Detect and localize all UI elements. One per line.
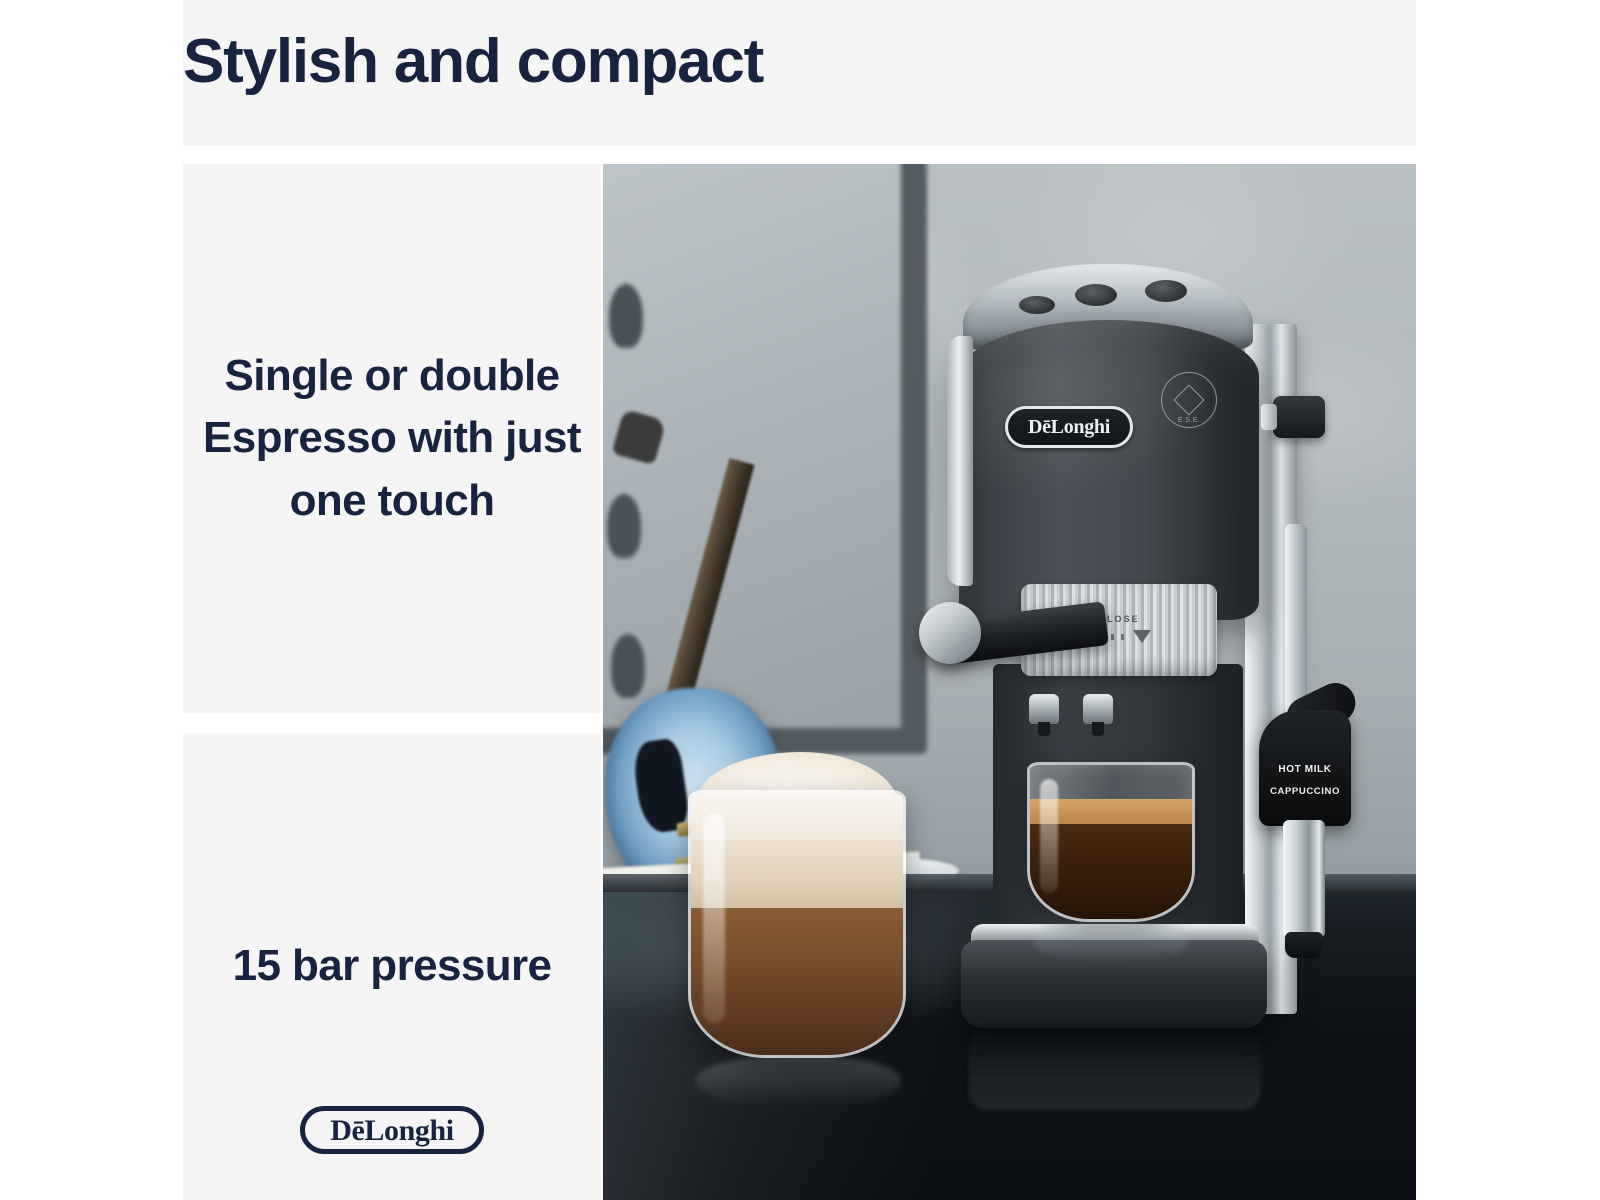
cup-warming-pad-icon — [1075, 284, 1117, 306]
cup-warming-pad-icon — [1019, 296, 1055, 314]
feature-panel-pressure: 15 bar pressure DēLonghi — [183, 733, 601, 1200]
mirror-ornament-icon — [609, 284, 643, 348]
brew-ring-arrow-icon — [1133, 630, 1151, 643]
product-feature-page: Stylish and compact Single or double Esp… — [0, 0, 1600, 1200]
header-band: Stylish and compact — [183, 0, 1416, 146]
espresso-glass — [1027, 762, 1195, 922]
steam-wand-label-cappuccino: CAPPUCCINO — [1259, 786, 1351, 797]
cup-warming-pad-icon — [1145, 280, 1187, 302]
espresso-reflection — [1033, 922, 1189, 964]
steam-control-knob — [1273, 396, 1325, 438]
machine-delonghi-badge: DēLonghi — [1005, 406, 1133, 448]
ese-seal-diamond-icon — [1173, 384, 1204, 415]
steam-wand-grip: HOT MILK CAPPUCCINO — [1259, 710, 1351, 826]
delonghi-logo-text: DēLonghi — [330, 1116, 454, 1146]
steam-wand-tip — [1285, 932, 1323, 958]
ese-seal-icon: E.S.E. — [1161, 372, 1217, 428]
delonghi-logo: DēLonghi — [300, 1106, 484, 1154]
machine-body-texture — [959, 320, 1259, 620]
machine-body — [959, 320, 1259, 620]
mirror-ornament-icon — [611, 634, 645, 698]
photo-scene: DēLonghi E.S.E. CLOSE — [603, 164, 1416, 1200]
steam-wand-tube — [1283, 820, 1325, 938]
steam-wand-label-hot-milk: HOT MILK — [1259, 764, 1351, 775]
portafilter-knob — [919, 602, 981, 664]
product-photo: DēLonghi E.S.E. CLOSE — [603, 164, 1416, 1200]
coffee-spout — [1029, 694, 1059, 724]
ese-seal-label: E.S.E. — [1162, 417, 1216, 424]
latte-glass-body — [688, 790, 906, 1058]
feature-text-espresso: Single or double Espresso with just one … — [183, 345, 601, 532]
coffee-spout — [1083, 694, 1113, 724]
mirror-ornament-icon — [607, 494, 641, 558]
latte-glass-highlight — [703, 813, 725, 1023]
espresso-glass-body — [1027, 762, 1195, 922]
latte-macchiato-glass — [688, 790, 906, 1058]
espresso-glass-highlight — [1040, 779, 1058, 893]
steam-wand-arm — [1285, 524, 1307, 720]
machine-chrome-lip — [947, 336, 973, 586]
machine-base-reflection — [969, 1024, 1261, 1110]
machine-badge-text: DēLonghi — [1028, 417, 1110, 437]
feature-text-pressure: 15 bar pressure — [183, 935, 601, 997]
feature-panel-espresso: Single or double Espresso with just one … — [183, 164, 601, 713]
latte-reflection — [695, 1054, 901, 1108]
espresso-machine: DēLonghi E.S.E. CLOSE — [933, 224, 1353, 1124]
page-title: Stylish and compact — [183, 28, 763, 96]
